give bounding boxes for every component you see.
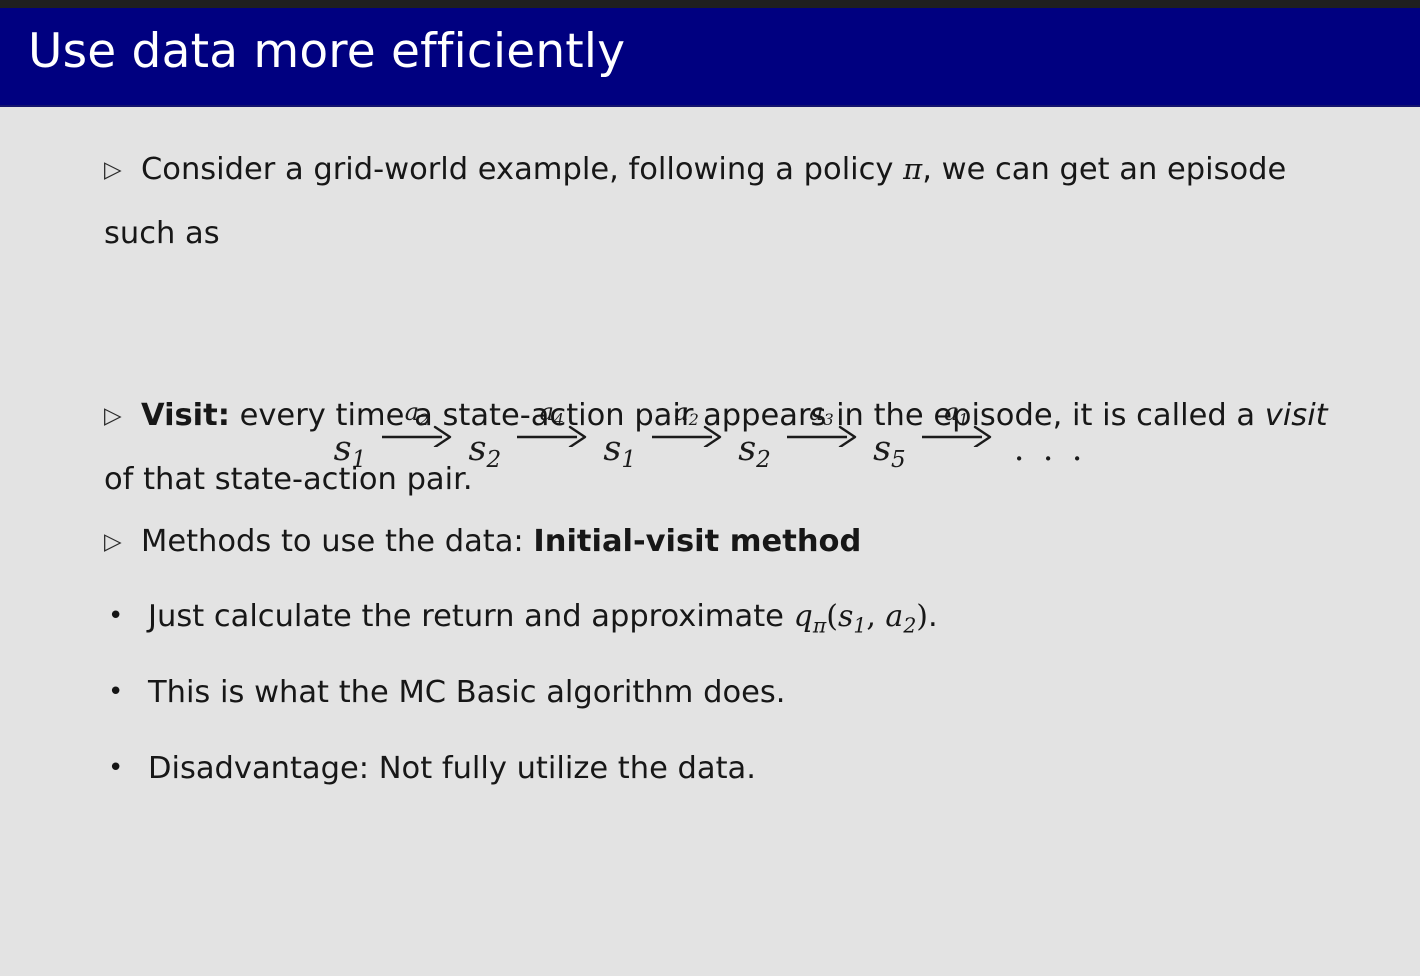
para3-text: Methods to use the data: <box>141 524 533 559</box>
bullet-consider-grid-world: ▷Consider a grid-world example, followin… <box>104 138 1366 265</box>
para2-text-after: of that state-action pair. <box>104 462 473 497</box>
bullet-visit-definition: ▷Visit: every time a state-action pair a… <box>104 384 1366 511</box>
sub-bullet-calculate-return: •Just calculate the return and approxima… <box>108 585 1358 658</box>
dot-bullet-icon: • <box>108 661 148 724</box>
triangle-bullet-icon: ▷ <box>104 139 141 202</box>
pi-symbol-icon: π <box>903 152 922 186</box>
para1-text-before: Consider a grid-world example, following… <box>141 152 903 187</box>
visit-emphasis: visit <box>1265 398 1328 433</box>
visit-lead-label: Visit: <box>141 398 230 433</box>
top-dark-strip <box>0 0 1420 8</box>
page-title: Use data more efficiently <box>28 26 625 78</box>
dot-bullet-icon: • <box>108 737 148 800</box>
bullet-methods-initial-visit: ▷Methods to use the data: Initial-visit … <box>104 510 1366 574</box>
slide-content: ▷Consider a grid-world example, followin… <box>0 107 1420 976</box>
dot-bullet-icon: • <box>108 585 148 648</box>
bullet1-period: . <box>928 599 938 634</box>
bullet1-text: Just calculate the return and approximat… <box>148 599 794 634</box>
slide-root: Use data more efficiently ▷Consider a gr… <box>0 0 1420 976</box>
slide-title-bar: Use data more efficiently <box>0 8 1420 107</box>
sub-bullet-mc-basic: •This is what the MC Basic algorithm doe… <box>108 661 1358 724</box>
bullet2-text: This is what the MC Basic algorithm does… <box>148 675 785 710</box>
q-pi-expression: qπ(s1, a2) <box>794 599 928 634</box>
sub-bullet-disadvantage: •Disadvantage: Not fully utilize the dat… <box>108 737 1358 800</box>
triangle-bullet-icon: ▷ <box>104 385 141 448</box>
bullet3-text: Disadvantage: Not fully utilize the data… <box>148 751 756 786</box>
triangle-bullet-icon: ▷ <box>104 511 141 574</box>
initial-visit-method-label: Initial-visit method <box>533 524 861 559</box>
para2-text: every time a state-action pair appears i… <box>230 398 1265 433</box>
